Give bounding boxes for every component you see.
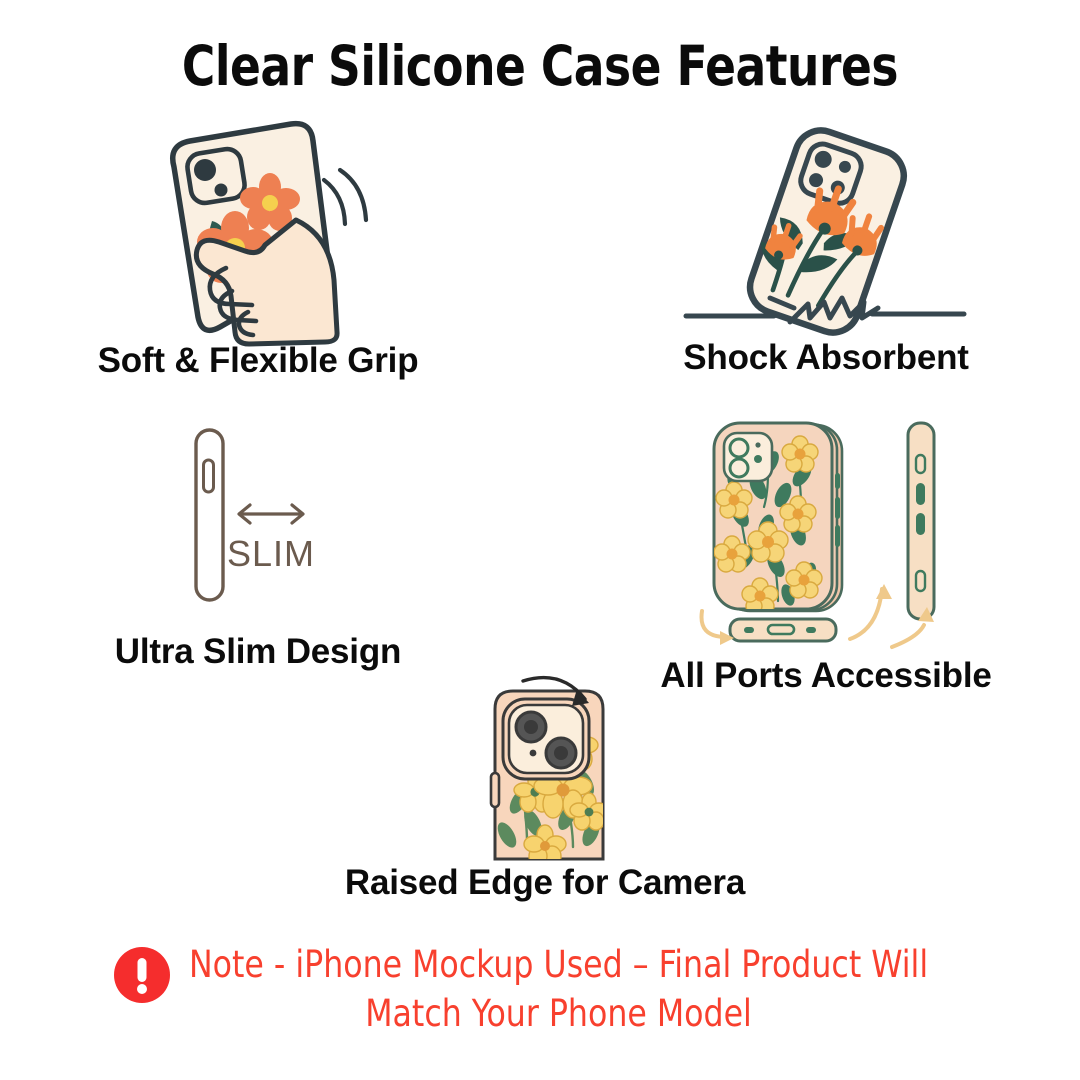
feature-all-ports-accessible: All Ports Accessible [600, 415, 1052, 696]
feature-soft-flexible-grip: Soft & Flexible Grip [32, 118, 484, 381]
note-line-1: Note - iPhone Mockup Used – Final Produc… [189, 943, 928, 986]
feature-shock-absorbent: Shock Absorbent [600, 118, 1052, 378]
infographic-page: Clear Silicone Case Features [0, 0, 1080, 1080]
phone-ports-views-icon [676, 415, 976, 650]
feature-ultra-slim-design: SLIM Ultra Slim Design [32, 420, 484, 672]
feature-caption: Raised Edge for Camera [300, 863, 790, 903]
camera-bump-closeup-icon [395, 665, 695, 855]
feature-caption: Soft & Flexible Grip [32, 341, 484, 381]
slim-label: SLIM [227, 533, 315, 574]
note-line-2: Match Your Phone Model [189, 989, 928, 1038]
phone-drop-impact-icon [676, 118, 976, 336]
phone-thickness-slim-icon: SLIM [108, 420, 408, 610]
feature-caption: Shock Absorbent [600, 338, 1052, 378]
note-text: Note - iPhone Mockup Used – Final Produc… [189, 940, 928, 1038]
note-banner: Note - iPhone Mockup Used – Final Produc… [0, 940, 1080, 1038]
hand-flexing-phone-icon [108, 118, 408, 333]
feature-raised-edge-camera: Raised Edge for Camera [300, 665, 790, 903]
exclamation-circle-icon [113, 946, 171, 1004]
page-title: Clear Silicone Case Features [43, 34, 1037, 98]
